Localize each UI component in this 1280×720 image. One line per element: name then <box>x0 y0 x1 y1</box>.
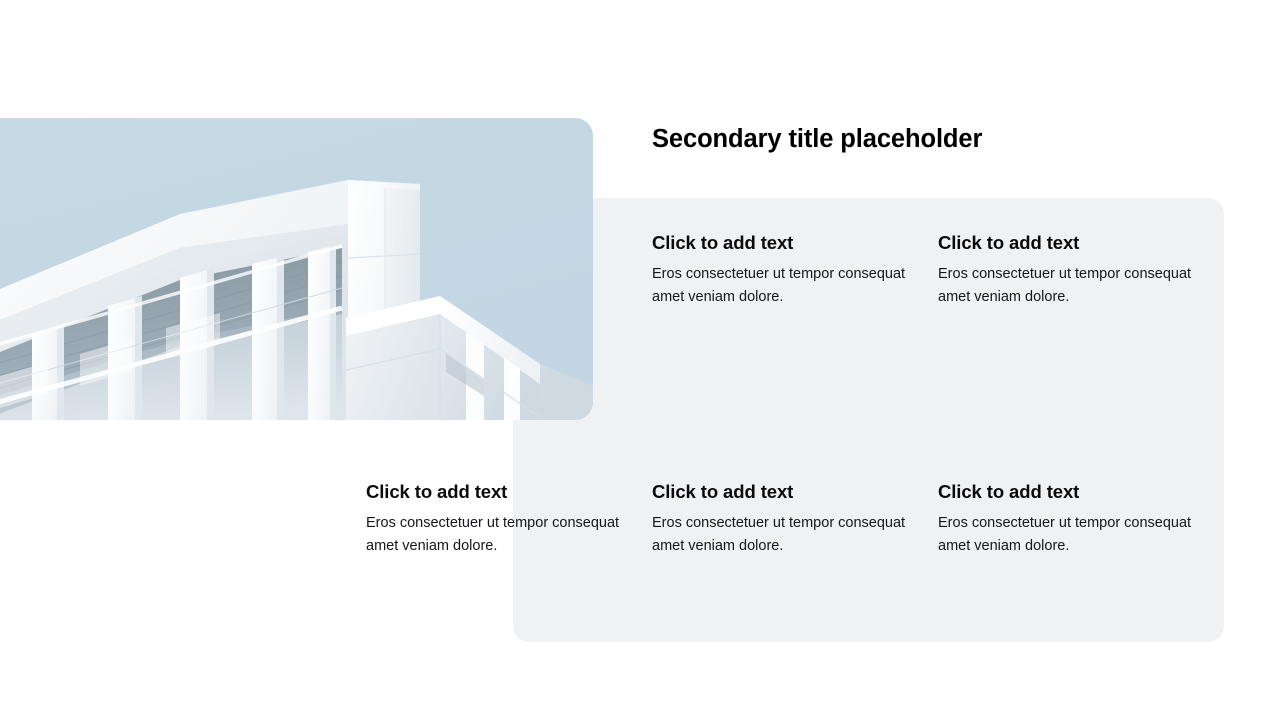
text-block-heading[interactable]: Click to add text <box>652 232 920 254</box>
text-block-heading[interactable]: Click to add text <box>938 232 1206 254</box>
text-block-body[interactable]: Eros consectetuer ut tempor consequat am… <box>938 512 1206 557</box>
text-block-heading[interactable]: Click to add text <box>938 481 1206 503</box>
building-photo[interactable] <box>0 118 593 420</box>
text-block-r2c1[interactable]: Click to add text Eros consectetuer ut t… <box>366 481 634 557</box>
text-block-heading[interactable]: Click to add text <box>652 481 920 503</box>
secondary-title[interactable]: Secondary title placeholder <box>652 124 1212 156</box>
text-block-r1c2[interactable]: Click to add text Eros consectetuer ut t… <box>652 232 920 308</box>
text-block-body[interactable]: Eros consectetuer ut tempor consequat am… <box>652 512 920 557</box>
text-block-body[interactable]: Eros consectetuer ut tempor consequat am… <box>938 263 1206 308</box>
text-block-r2c2[interactable]: Click to add text Eros consectetuer ut t… <box>652 481 920 557</box>
slide-canvas: Secondary title placeholder Click to add… <box>0 0 1280 720</box>
text-block-body[interactable]: Eros consectetuer ut tempor consequat am… <box>652 263 920 308</box>
building-photo-artwork <box>0 118 593 420</box>
text-block-body[interactable]: Eros consectetuer ut tempor consequat am… <box>366 512 634 557</box>
text-block-r1c3[interactable]: Click to add text Eros consectetuer ut t… <box>938 232 1206 308</box>
text-block-r2c3[interactable]: Click to add text Eros consectetuer ut t… <box>938 481 1206 557</box>
text-block-heading[interactable]: Click to add text <box>366 481 634 503</box>
